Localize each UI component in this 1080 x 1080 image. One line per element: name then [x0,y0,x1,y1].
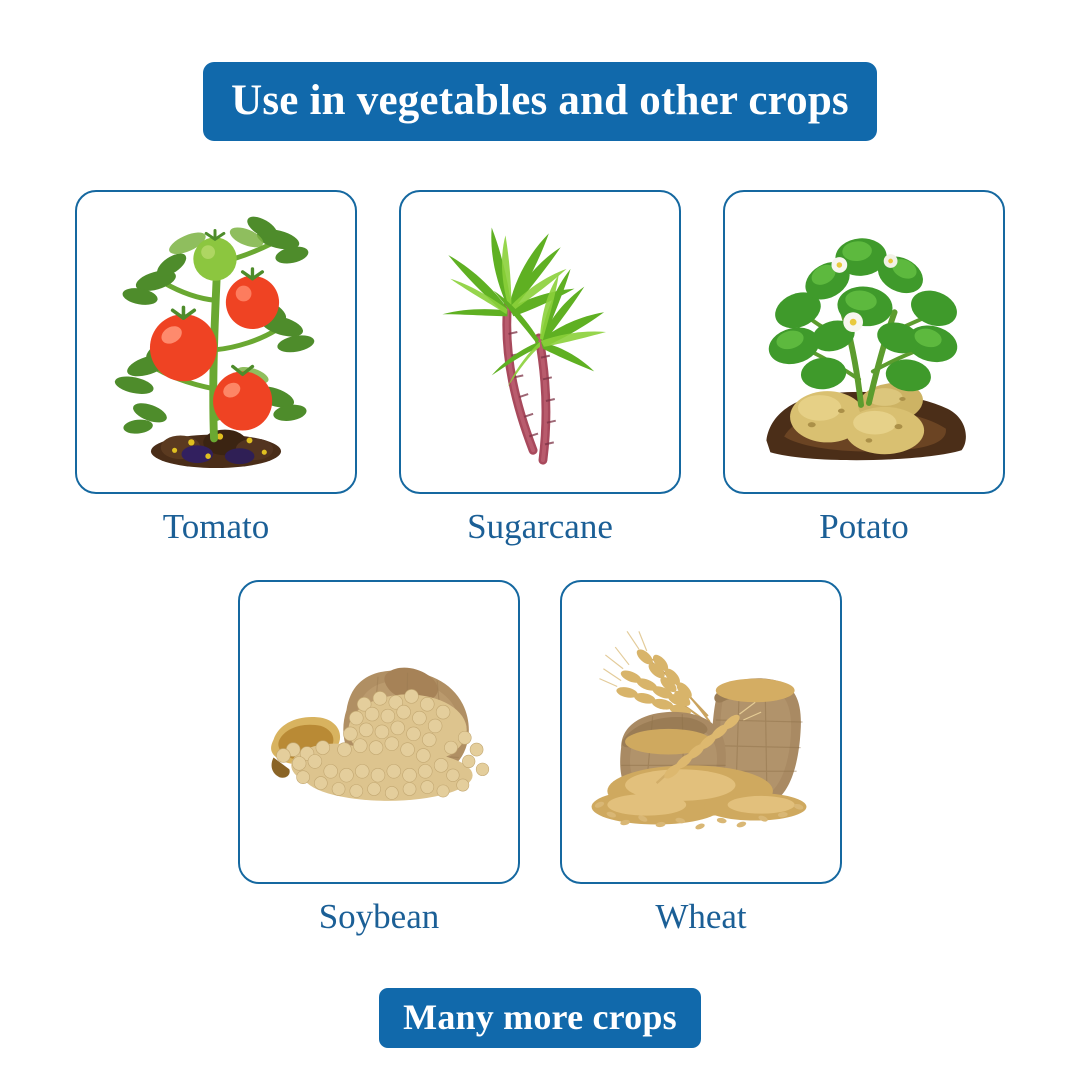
crop-cell-sugarcane[interactable]: Sugarcane [399,190,681,547]
footer-title-badge: Many more crops [379,988,701,1048]
header-banner: Use in vegetables and other crops [0,62,1080,141]
crop-card-soybean[interactable] [238,580,520,884]
crop-card-wheat[interactable] [560,580,842,884]
crop-card-tomato[interactable] [75,190,357,494]
header-title-badge: Use in vegetables and other crops [203,62,877,141]
potato-plant-illustration [725,192,1003,492]
tomato-plant-illustration [77,192,355,492]
footer-banner: Many more crops [0,988,1080,1048]
crop-label-wheat: Wheat [655,898,746,937]
crop-label-soybean: Soybean [319,898,440,937]
soybean-sack-illustration [240,582,518,882]
crop-cell-soybean[interactable]: Soybean [238,580,520,937]
wheat-sack-illustration [562,582,840,882]
crop-cell-tomato[interactable]: Tomato [75,190,357,547]
crop-cell-wheat[interactable]: Wheat [560,580,842,937]
sugarcane-stalks-illustration [401,192,679,492]
crop-card-potato[interactable] [723,190,1005,494]
crop-row-bottom: Soybean [0,580,1080,937]
crop-cell-potato[interactable]: Potato [723,190,1005,547]
crop-label-tomato: Tomato [163,508,269,547]
crop-card-sugarcane[interactable] [399,190,681,494]
crop-label-potato: Potato [819,508,908,547]
crop-label-sugarcane: Sugarcane [467,508,613,547]
crop-row-top: Tomato [0,190,1080,547]
